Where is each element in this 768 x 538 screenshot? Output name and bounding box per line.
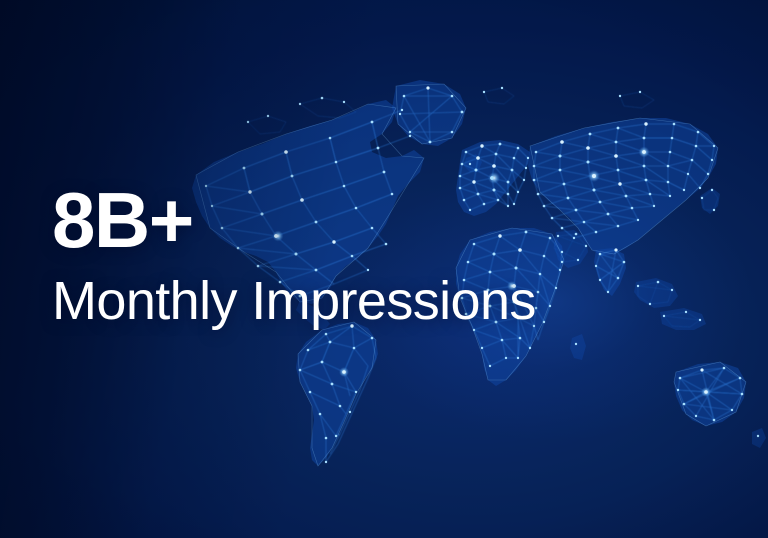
stat-copy-block: 8B+ Monthly Impressions [52, 178, 536, 331]
impressions-stat-banner: 8B+ Monthly Impressions [0, 0, 768, 538]
stat-headline: 8B+ [52, 178, 536, 262]
stat-subheadline: Monthly Impressions [52, 271, 536, 331]
